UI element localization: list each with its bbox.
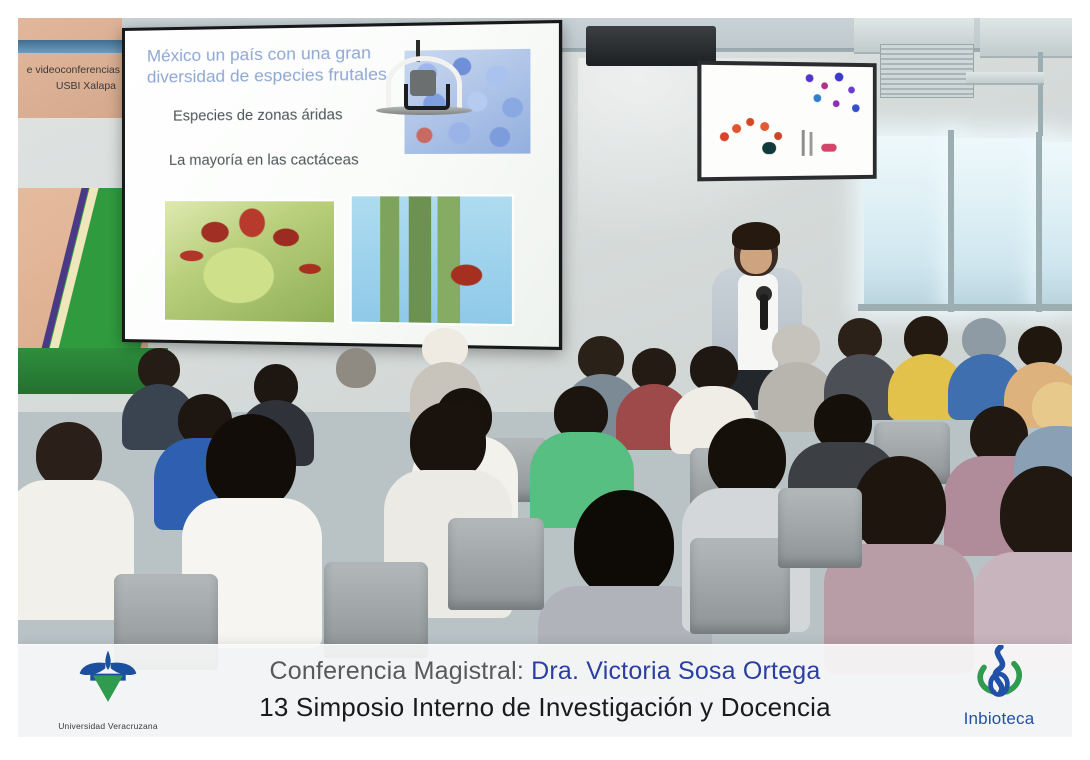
slide-bullet-2: La mayoría en las cactáceas: [169, 152, 359, 169]
projection-screen: México un país con una gran diversidad d…: [122, 20, 562, 350]
monitor-mark: [835, 73, 844, 82]
wall-poster-videoconferencias: e videoconferencias USBI Xalapa: [18, 18, 122, 118]
window-mullion-2: [1036, 132, 1042, 312]
audience-head: [36, 422, 102, 488]
universidad-veracruzana-mark: [48, 647, 168, 709]
monitor-mark: [833, 100, 840, 107]
monitor-mark: [821, 82, 828, 89]
caption-bar: Conferencia Magistral: Dra. Victoria Sos…: [18, 644, 1072, 737]
audience-head: [206, 414, 296, 510]
inbioteca-mark: [944, 645, 1054, 703]
audience-head: [854, 456, 946, 556]
slide-image-columnar-cactus: [350, 194, 514, 326]
monitor-mark: [762, 142, 776, 154]
caption-prefix: Conferencia Magistral:: [269, 657, 531, 685]
audience-head: [1000, 466, 1072, 562]
inbioteca-logo: Inbioteca: [944, 645, 1054, 731]
caption-line-1: Conferencia Magistral: Dra. Victoria Sos…: [18, 657, 1072, 686]
monitor-mark: [852, 104, 860, 112]
monitor-mark: [732, 124, 741, 133]
monitor-mark: [810, 132, 813, 156]
monitor-mark: [813, 94, 821, 102]
air-vent: [880, 44, 974, 98]
monitor-mark: [774, 132, 782, 140]
poster-line-2: USBI Xalapa: [18, 80, 116, 92]
window-pane-3: [1042, 142, 1072, 306]
audience-head: [336, 348, 376, 388]
caption-line-2: 13 Simposio Interno de Investigación y D…: [18, 692, 1072, 723]
photo-card: e videoconferencias USBI Xalapa México u…: [0, 0, 1090, 760]
chair: [690, 538, 790, 634]
universidad-veracruzana-logo: Universidad Veracruzana: [48, 647, 168, 731]
monitor-mark: [806, 74, 814, 82]
monitor-mark: [720, 132, 729, 141]
slide-title: México un país con una gran diversidad d…: [147, 42, 426, 88]
window-mullion-1: [948, 130, 954, 312]
wall-monitor: [697, 61, 876, 182]
chair: [778, 488, 862, 568]
inbioteca-label: Inbioteca: [944, 709, 1054, 729]
air-duct-2: [980, 18, 1072, 58]
monitor-mark: [746, 118, 754, 126]
monitor-mark: [848, 87, 855, 94]
window-sill: [858, 304, 1072, 311]
slide-image-prickly-pear: [163, 199, 336, 324]
poster-stripe: [18, 40, 122, 53]
universidad-veracruzana-label: Universidad Veracruzana: [48, 721, 168, 731]
audience-head: [1032, 382, 1072, 432]
presentation-slide: México un país con una gran diversidad d…: [125, 23, 559, 347]
monitor-mark: [802, 130, 805, 156]
poster-line-1: e videoconferencias: [18, 64, 120, 76]
microphone-handle: [760, 294, 768, 330]
chair: [448, 518, 544, 610]
slide-bullet-1: Especies de zonas áridas: [173, 107, 343, 125]
monitor-mark: [821, 144, 836, 152]
event-photograph: e videoconferencias USBI Xalapa México u…: [18, 18, 1072, 737]
speaker-hair: [732, 222, 780, 250]
projector-cage: [404, 84, 450, 110]
caption-speaker-name: Dra. Victoria Sosa Ortega: [531, 657, 820, 685]
audience-head: [410, 402, 486, 480]
duct-lip: [966, 72, 1044, 85]
duct-support: [1038, 52, 1043, 136]
monitor-mark: [760, 122, 769, 131]
audience-head: [574, 490, 674, 598]
window-pane-2: [954, 138, 1038, 308]
audience-head: [708, 418, 786, 498]
